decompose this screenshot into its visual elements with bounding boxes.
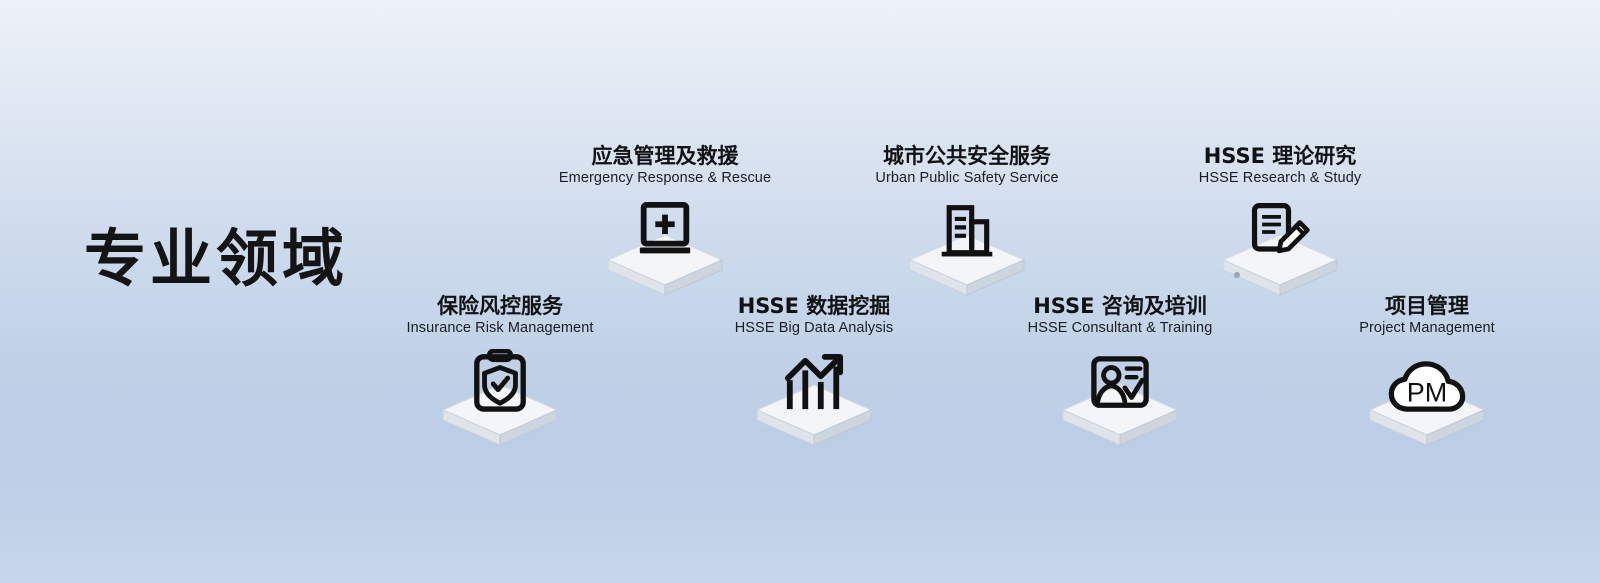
cloud-pm-icon: PM — [1382, 347, 1472, 413]
document-pencil-icon — [1235, 197, 1325, 263]
card-title-cn: HSSE 数据挖掘 — [694, 295, 934, 317]
card-title-en: HSSE Research & Study — [1160, 171, 1400, 187]
bar-chart-trend-icon — [769, 347, 859, 413]
card-insurance-risk-management[interactable]: 保险风控服务 Insurance Risk Management — [380, 295, 620, 457]
card-title-en: Emergency Response & Rescue — [545, 171, 785, 187]
card-illustration — [1160, 197, 1400, 307]
card-title-en: Urban Public Safety Service — [847, 171, 1087, 187]
clipboard-shield-check-icon — [455, 347, 545, 413]
card-illustration — [545, 197, 785, 307]
card-emergency-response-rescue[interactable]: 应急管理及救援 Emergency Response & Rescue — [545, 145, 785, 307]
card-title-cn: 城市公共安全服务 — [847, 145, 1087, 167]
card-hsse-research-study[interactable]: HSSE 理论研究 HSSE Research & Study — [1160, 145, 1400, 307]
card-illustration — [1000, 347, 1240, 457]
id-card-person-check-icon — [1075, 347, 1165, 413]
first-aid-plus-icon — [620, 197, 710, 263]
card-illustration — [847, 197, 1087, 307]
card-project-management[interactable]: 项目管理 Project Management PM — [1307, 295, 1547, 457]
card-illustration: PM — [1307, 347, 1547, 457]
card-urban-public-safety-service[interactable]: 城市公共安全服务 Urban Public Safety Service — [847, 145, 1087, 307]
card-title-en: Project Management — [1307, 321, 1547, 337]
city-buildings-icon — [922, 197, 1012, 263]
professional-fields-banner: 专业领域 应急管理及救援 Emergency Response & Rescue — [0, 0, 1600, 583]
card-illustration — [694, 347, 934, 457]
card-illustration — [380, 347, 620, 457]
page-title: 专业领域 — [84, 228, 348, 290]
card-hsse-big-data-analysis[interactable]: HSSE 数据挖掘 HSSE Big Data Analysis — [694, 295, 934, 457]
card-title-cn: 保险风控服务 — [380, 295, 620, 317]
card-title-en: HSSE Big Data Analysis — [694, 321, 934, 337]
card-title-en: Insurance Risk Management — [380, 321, 620, 337]
card-title-cn: HSSE 咨询及培训 — [1000, 295, 1240, 317]
card-title-cn: HSSE 理论研究 — [1160, 145, 1400, 167]
card-title-cn: 项目管理 — [1307, 295, 1547, 317]
card-title-cn: 应急管理及救援 — [545, 145, 785, 167]
card-hsse-consultant-training[interactable]: HSSE 咨询及培训 HSSE Consultant & Training — [1000, 295, 1240, 457]
card-title-en: HSSE Consultant & Training — [1000, 321, 1240, 337]
cloud-pm-label: PM — [1407, 377, 1447, 407]
